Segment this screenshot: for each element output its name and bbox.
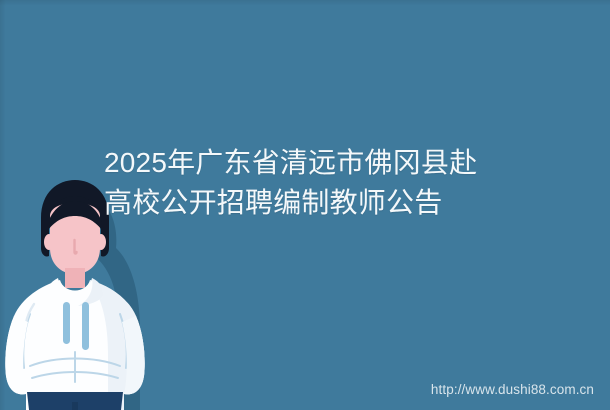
- announcement-banner: 2025年广东省清远市佛冈县赴 高校公开招聘编制教师公告 http://www.…: [0, 0, 610, 410]
- face: [44, 201, 106, 274]
- left-drawstring: [63, 302, 70, 344]
- pants: [27, 392, 123, 410]
- right-drawstring: [82, 302, 89, 350]
- page-title: 2025年广东省清远市佛冈县赴 高校公开招聘编制教师公告: [104, 143, 574, 223]
- neck: [65, 268, 85, 288]
- watermark-url: http://www.dushi88.com.cn: [431, 382, 594, 398]
